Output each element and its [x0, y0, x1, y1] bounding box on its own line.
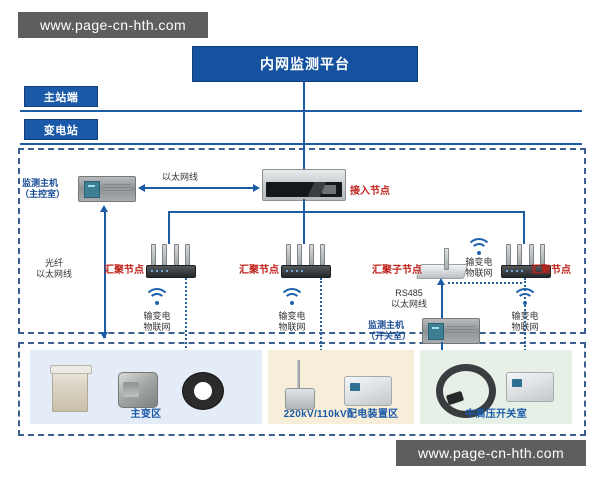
equipment-clamp-sensor [118, 372, 158, 408]
host-vent-grill [103, 184, 131, 193]
wifi-dot [477, 251, 481, 255]
label-aggregation-node-2: 汇聚节点 [239, 265, 279, 276]
label-aggregation-node-3: 汇聚节点 [531, 265, 571, 276]
server-front-panel [266, 182, 342, 197]
label-rs485-line2: 以太网线 [379, 299, 439, 310]
line-bus-drop-3 [523, 211, 525, 244]
label-monitor-host-control-line1: 监测主机 [22, 178, 58, 189]
line-server-to-bus [303, 199, 305, 211]
wireless-link-subnode-to-node3 [448, 282, 522, 284]
arrowhead-to-host [138, 184, 145, 192]
label-rs485-line1: RS485 [385, 288, 433, 299]
divider-master-station [20, 110, 582, 112]
aggregation-node-1-router [146, 244, 194, 278]
line-ethernet-host-server [145, 187, 255, 189]
label-iot-subnode-line2: 物联网 [457, 268, 501, 279]
watermark-top: www.page-cn-hth.com [18, 12, 208, 38]
arrowhead-fiber-up [100, 205, 108, 212]
zone-switch-room: 中高压开关室 [420, 350, 572, 424]
access-node-server [262, 169, 346, 201]
tier-tag-master-station: 主站端 [24, 86, 98, 107]
arrowhead-to-server [253, 184, 260, 192]
label-iot-node2-line2: 物联网 [270, 322, 314, 333]
line-rs485 [441, 284, 443, 318]
label-ethernet-link: 以太网线 [162, 172, 198, 183]
monitor-host-switch-room-device [422, 318, 480, 344]
arrowhead-rs485-up [437, 278, 445, 285]
router-body [281, 265, 331, 278]
bus-aggregation-horizontal [168, 211, 523, 213]
line-platform-to-master [303, 80, 305, 110]
line-bus-drop-1 [168, 211, 170, 244]
label-iot-node2-line1: 输变电 [270, 311, 314, 322]
aggregation-node-2-router [281, 244, 329, 278]
zone-main-transformer: 主变区 [30, 350, 262, 424]
zone-label-distribution: 220kV/110kV配电装置区 [268, 405, 414, 420]
host-screen [84, 181, 100, 198]
label-aggregation-node-1: 汇聚节点 [104, 265, 144, 276]
line-bus-drop-2 [303, 211, 305, 244]
wifi-dot [290, 301, 294, 305]
label-fiber-line1: 光纤 [32, 258, 76, 269]
label-iot-subnode-line1: 输变电 [457, 257, 501, 268]
equipment-monitor-box [344, 376, 392, 406]
wifi-dot [155, 301, 159, 305]
label-aggregation-subnode: 汇聚子节点 [372, 265, 422, 276]
insulator-stem [297, 360, 300, 390]
divider-substation [20, 143, 582, 145]
label-fiber-line2: 以太网线 [22, 269, 86, 280]
label-iot-node1-line2: 物联网 [135, 322, 179, 333]
label-monitor-host-switch-line1: 监测主机 [368, 320, 404, 331]
label-access-node: 接入节点 [350, 186, 390, 197]
equipment-insulator-sensor [294, 360, 304, 408]
line-master-to-substation [303, 110, 305, 143]
tier-tag-substation: 变电站 [24, 119, 98, 140]
platform-title-box: 内网监测平台 [192, 46, 418, 82]
wireless-link-node-3 [524, 278, 526, 358]
wireless-link-node-2 [320, 278, 322, 358]
equipment-monitor-box [506, 372, 554, 402]
zone-distribution: 220kV/110kV配电装置区 [268, 350, 414, 424]
host-screen [428, 323, 444, 340]
diagram-canvas: www.page-cn-hth.com www.page-cn-hth.com … [0, 0, 600, 480]
gateway-antenna [444, 248, 449, 270]
label-iot-node1-line1: 输变电 [135, 311, 179, 322]
zone-label-switch-room: 中高压开关室 [420, 405, 572, 420]
label-monitor-host-control-line2: （主控室） [20, 189, 65, 200]
wifi-icon-subnode [466, 238, 492, 256]
host-vent-grill [447, 326, 475, 335]
router-body [146, 265, 196, 278]
wifi-icon-node-1 [144, 288, 170, 306]
monitor-host-control-room-device [78, 176, 136, 202]
wifi-icon-node-2 [279, 288, 305, 306]
arrowhead-into-main-zone [100, 332, 108, 339]
zone-label-main-transformer: 主变区 [30, 405, 262, 420]
label-monitor-host-switch-line2: （开关室） [366, 331, 411, 342]
line-into-server [303, 143, 305, 169]
watermark-bottom: www.page-cn-hth.com [396, 440, 586, 466]
